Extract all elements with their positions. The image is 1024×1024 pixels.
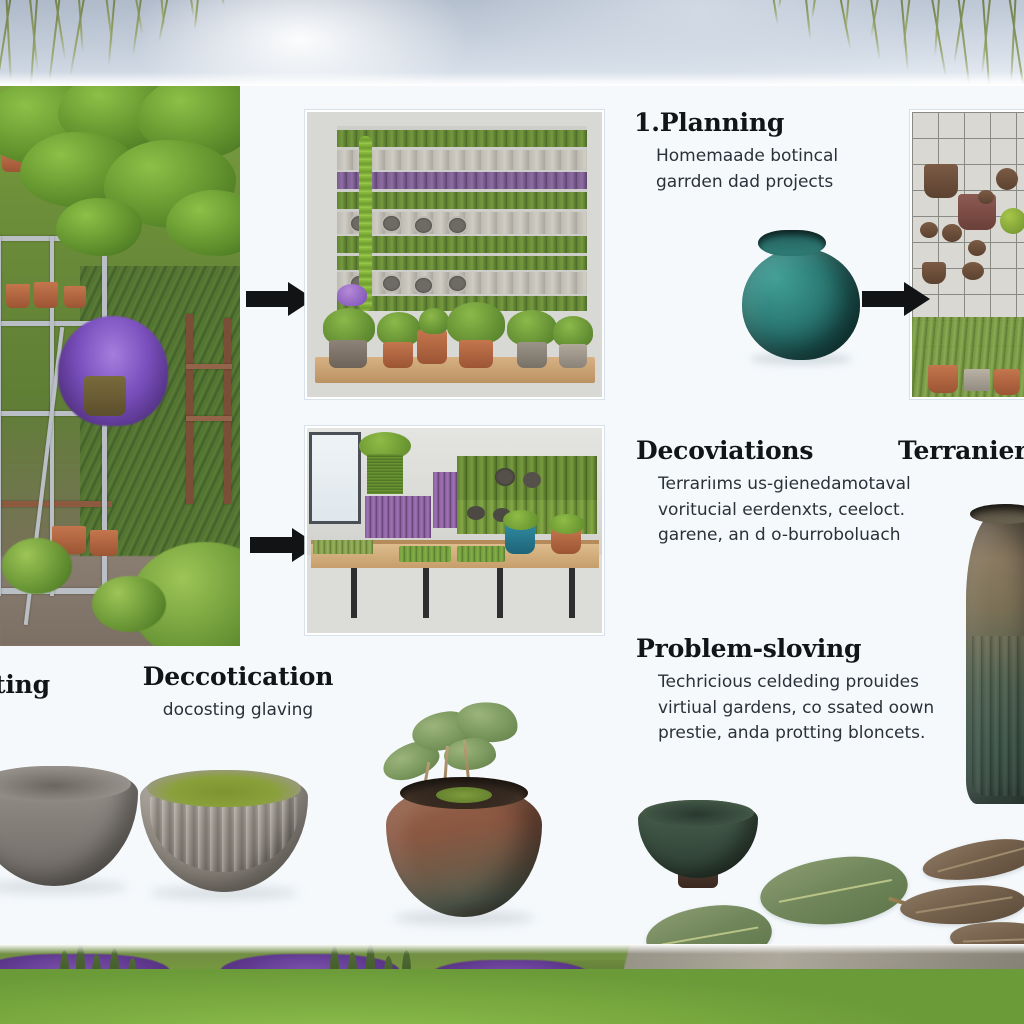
green-bowl-object [638,800,758,900]
planning-heading: 1.Planning [634,110,894,136]
section-planning: 1.Planning Homemaade botincal garrden da… [634,110,894,195]
planning-body-line-1: Homemaade botincal [656,144,894,170]
stone-bowl-empty-object [0,766,138,886]
section-decoviations: Decoviations Terrariıms us-gienedamotava… [636,438,936,549]
deccotication-heading: Deccotication [138,664,338,690]
lawn [0,969,1024,1024]
problem-solving-body-line-1: Techricious celdeding prouides [658,670,956,696]
tall-bronze-vase-object [962,486,1024,804]
section-deccotication: Deccotication docosting glaving [138,664,338,724]
green-wall-panel [337,126,587,311]
section-planting-partial: ting [0,672,74,706]
poster-canvas: 1.Planning Homemaade botincal garrden da… [0,0,1024,1024]
problem-solving-body-line-2: virtiual gardens, co ssated oown [658,696,956,722]
decoviations-body: Terrariıms us-gienedamotaval voritucial … [636,472,936,549]
seedling-tray [457,546,505,562]
green-leaf-center-object [757,852,910,931]
planning-body: Homemaade botincal garrden dad projects [634,144,894,195]
deccotication-body: docosting glaving [138,698,338,724]
deccotication-body-line-1: docosting glaving [138,698,338,724]
problem-solving-body: Techricious celdeding prouides virtiual … [636,670,956,747]
problem-solving-heading: Problem-sloving [636,636,956,662]
garden-background-band [0,944,1024,1024]
copper-pot-plant-object [378,700,550,925]
decoviations-body-line-3: garene, an d o-burroboluach [658,523,936,549]
basket-pot [84,376,126,416]
decoviations-heading: Decoviations [636,438,936,464]
problem-solving-body-line-3: prestie, anda protting bloncets. [658,721,956,747]
oak-leaf-icon [56,198,142,256]
photo-workshop-table [305,426,604,635]
decoviations-body-line-2: voritucial eerdenxts, ceeloct. [658,498,936,524]
decoviations-body-line-1: Terrariıms us-gienedamotaval [658,472,936,498]
terraniers-heading: Terraniers [898,438,1024,464]
brown-leaf-object-1 [920,833,1024,887]
planning-body-line-2: garrden dad projects [656,170,894,196]
main-content-area: 1.Planning Homemaade botincal garrden da… [0,86,1024,944]
photo-vertical-green-wall [305,110,604,399]
garden-fade [0,944,1024,954]
photo-grid-wall [910,110,1024,399]
seedling-tray [399,546,451,562]
stone-bowl-moss-object [140,770,308,892]
workshop-window [309,432,361,524]
section-problem-solving: Problem-sloving Techricious celdeding pr… [636,636,956,747]
arrow-jar-to-gridwall-icon [862,282,932,316]
sky-background-band [0,0,1024,88]
photo-left-garden [0,86,240,646]
planting-partial-heading: ting [0,672,74,698]
section-terraniers: Terraniers [898,438,1024,472]
teal-jar-object [742,230,860,360]
trailing-vine [359,136,372,311]
